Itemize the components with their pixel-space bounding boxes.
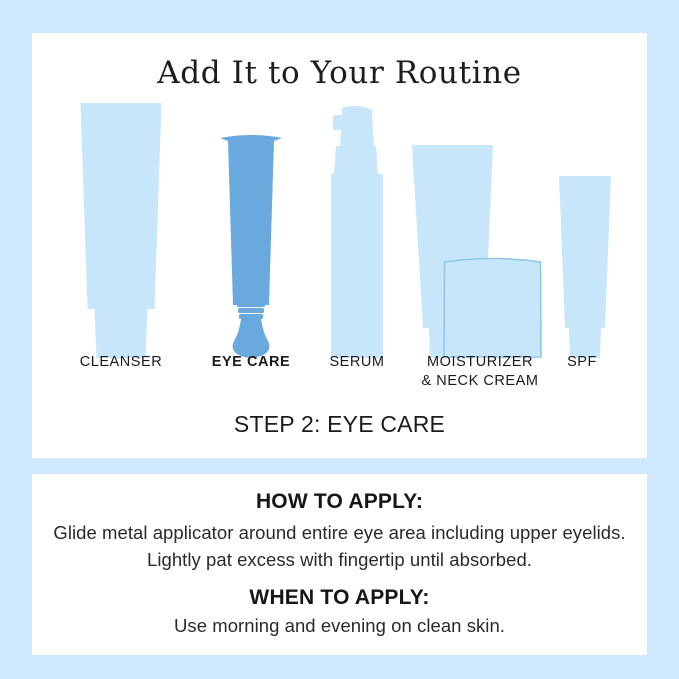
- label-cleanser: CLEANSER: [46, 353, 196, 372]
- product-serum: [320, 103, 394, 358]
- product-spf: [547, 103, 623, 358]
- product-eye-care: [208, 103, 294, 358]
- when-to-apply-heading: WHEN TO APPLY:: [32, 586, 647, 610]
- page-title: Add It to Your Routine: [32, 55, 647, 91]
- label-spf: SPF: [507, 353, 657, 372]
- how-to-apply-body: Glide metal applicator around entire eye…: [32, 519, 647, 573]
- routine-panel: Add It to Your Routine: [32, 33, 647, 458]
- product-cleanser: [68, 103, 174, 358]
- how-to-apply-block: HOW TO APPLY: Glide metal applicator aro…: [32, 490, 647, 573]
- small-tube-icon: [547, 103, 623, 358]
- step-heading: STEP 2: EYE CARE: [32, 411, 647, 438]
- how-to-apply-heading: HOW TO APPLY:: [32, 490, 647, 514]
- tube-icon: [68, 103, 174, 358]
- when-to-apply-block: WHEN TO APPLY: Use morning and evening o…: [32, 586, 647, 639]
- product-moisturizer: [402, 103, 552, 358]
- instructions-panel: HOW TO APPLY: Glide metal applicator aro…: [32, 474, 647, 655]
- product-lineup: [32, 103, 647, 358]
- routine-infographic: Add It to Your Routine: [0, 0, 679, 679]
- tube-and-jar-icon: [402, 103, 552, 358]
- pump-bottle-icon: [320, 103, 394, 358]
- eye-cream-tube-icon: [208, 103, 294, 358]
- when-to-apply-body: Use morning and evening on clean skin.: [32, 612, 647, 639]
